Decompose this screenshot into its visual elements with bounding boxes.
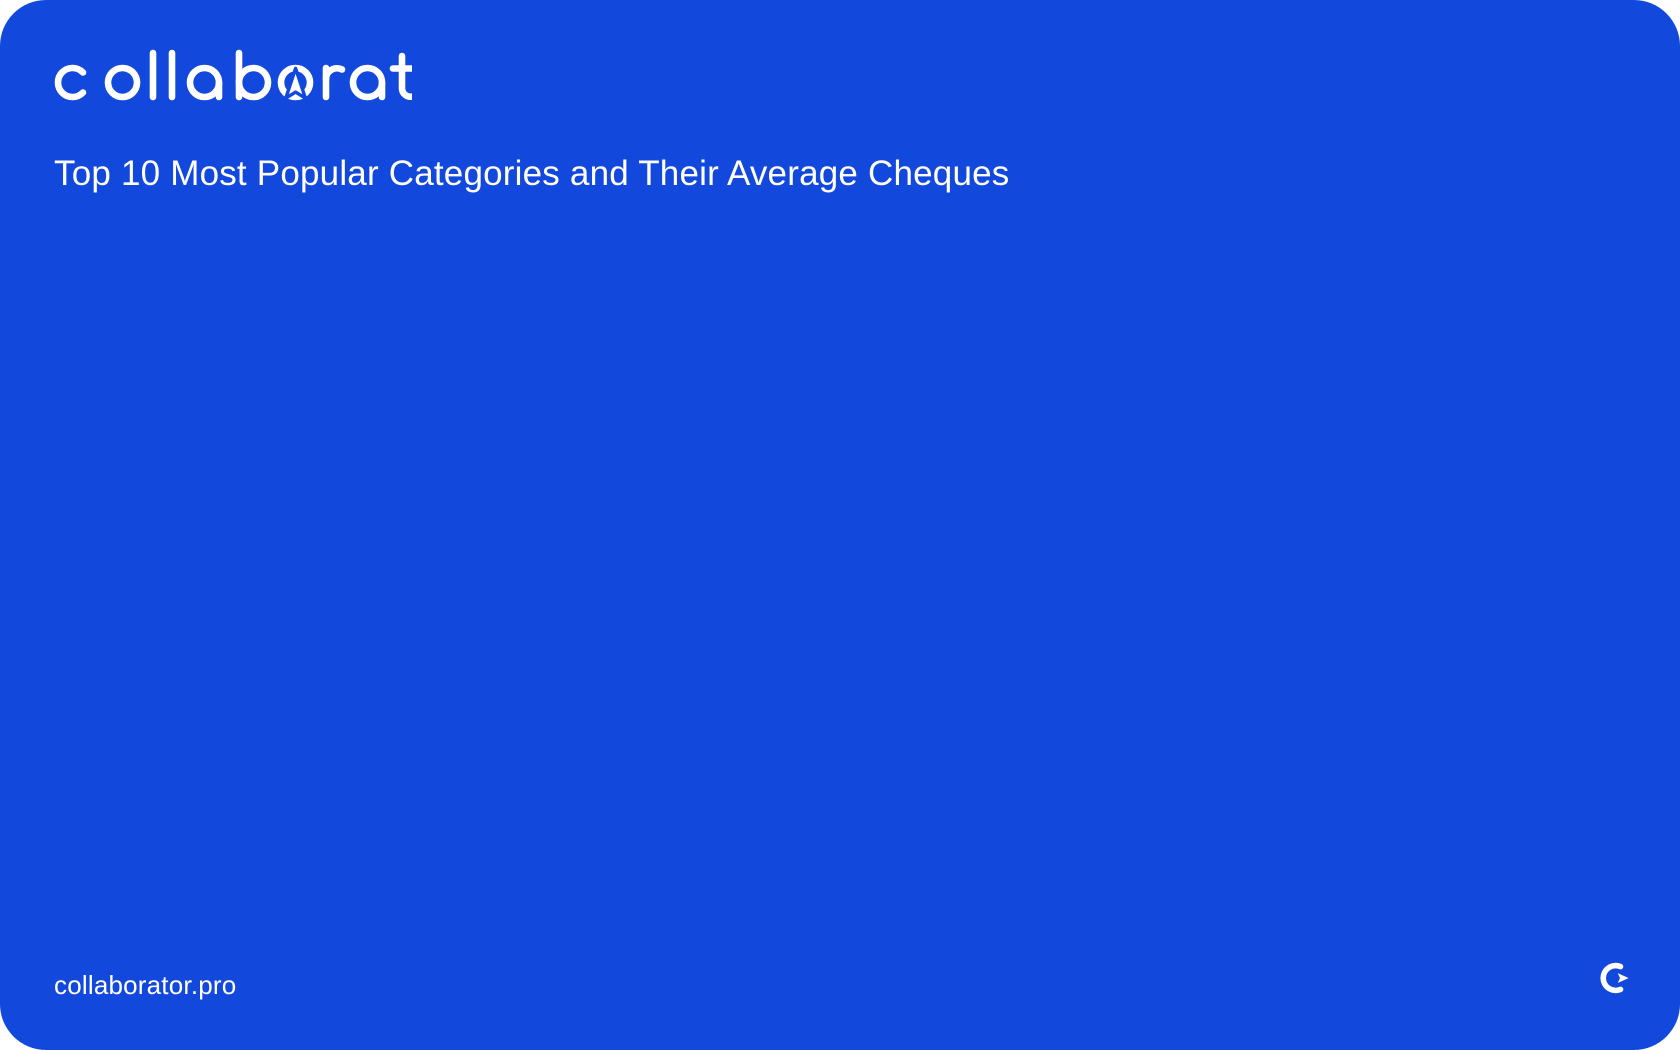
brand-logo[interactable] [52,48,412,110]
cursor-arrow-shape [1615,971,1632,986]
chart-plot-area: Chart plot area is blank in this screens… [54,232,1626,892]
slide-card: Top 10 Most Popular Categories and Their… [0,0,1680,1050]
site-url-label[interactable]: collaborator.pro [54,972,236,998]
page-title: Top 10 Most Popular Categories and Their… [54,152,1010,197]
chart-canvas [54,232,1626,892]
wordmark-letterforms [58,53,268,97]
cursor-in-o-icon [281,68,310,98]
collaborator-c-cursor-icon[interactable] [1600,962,1634,994]
wordmark-letterforms-2 [326,56,412,97]
